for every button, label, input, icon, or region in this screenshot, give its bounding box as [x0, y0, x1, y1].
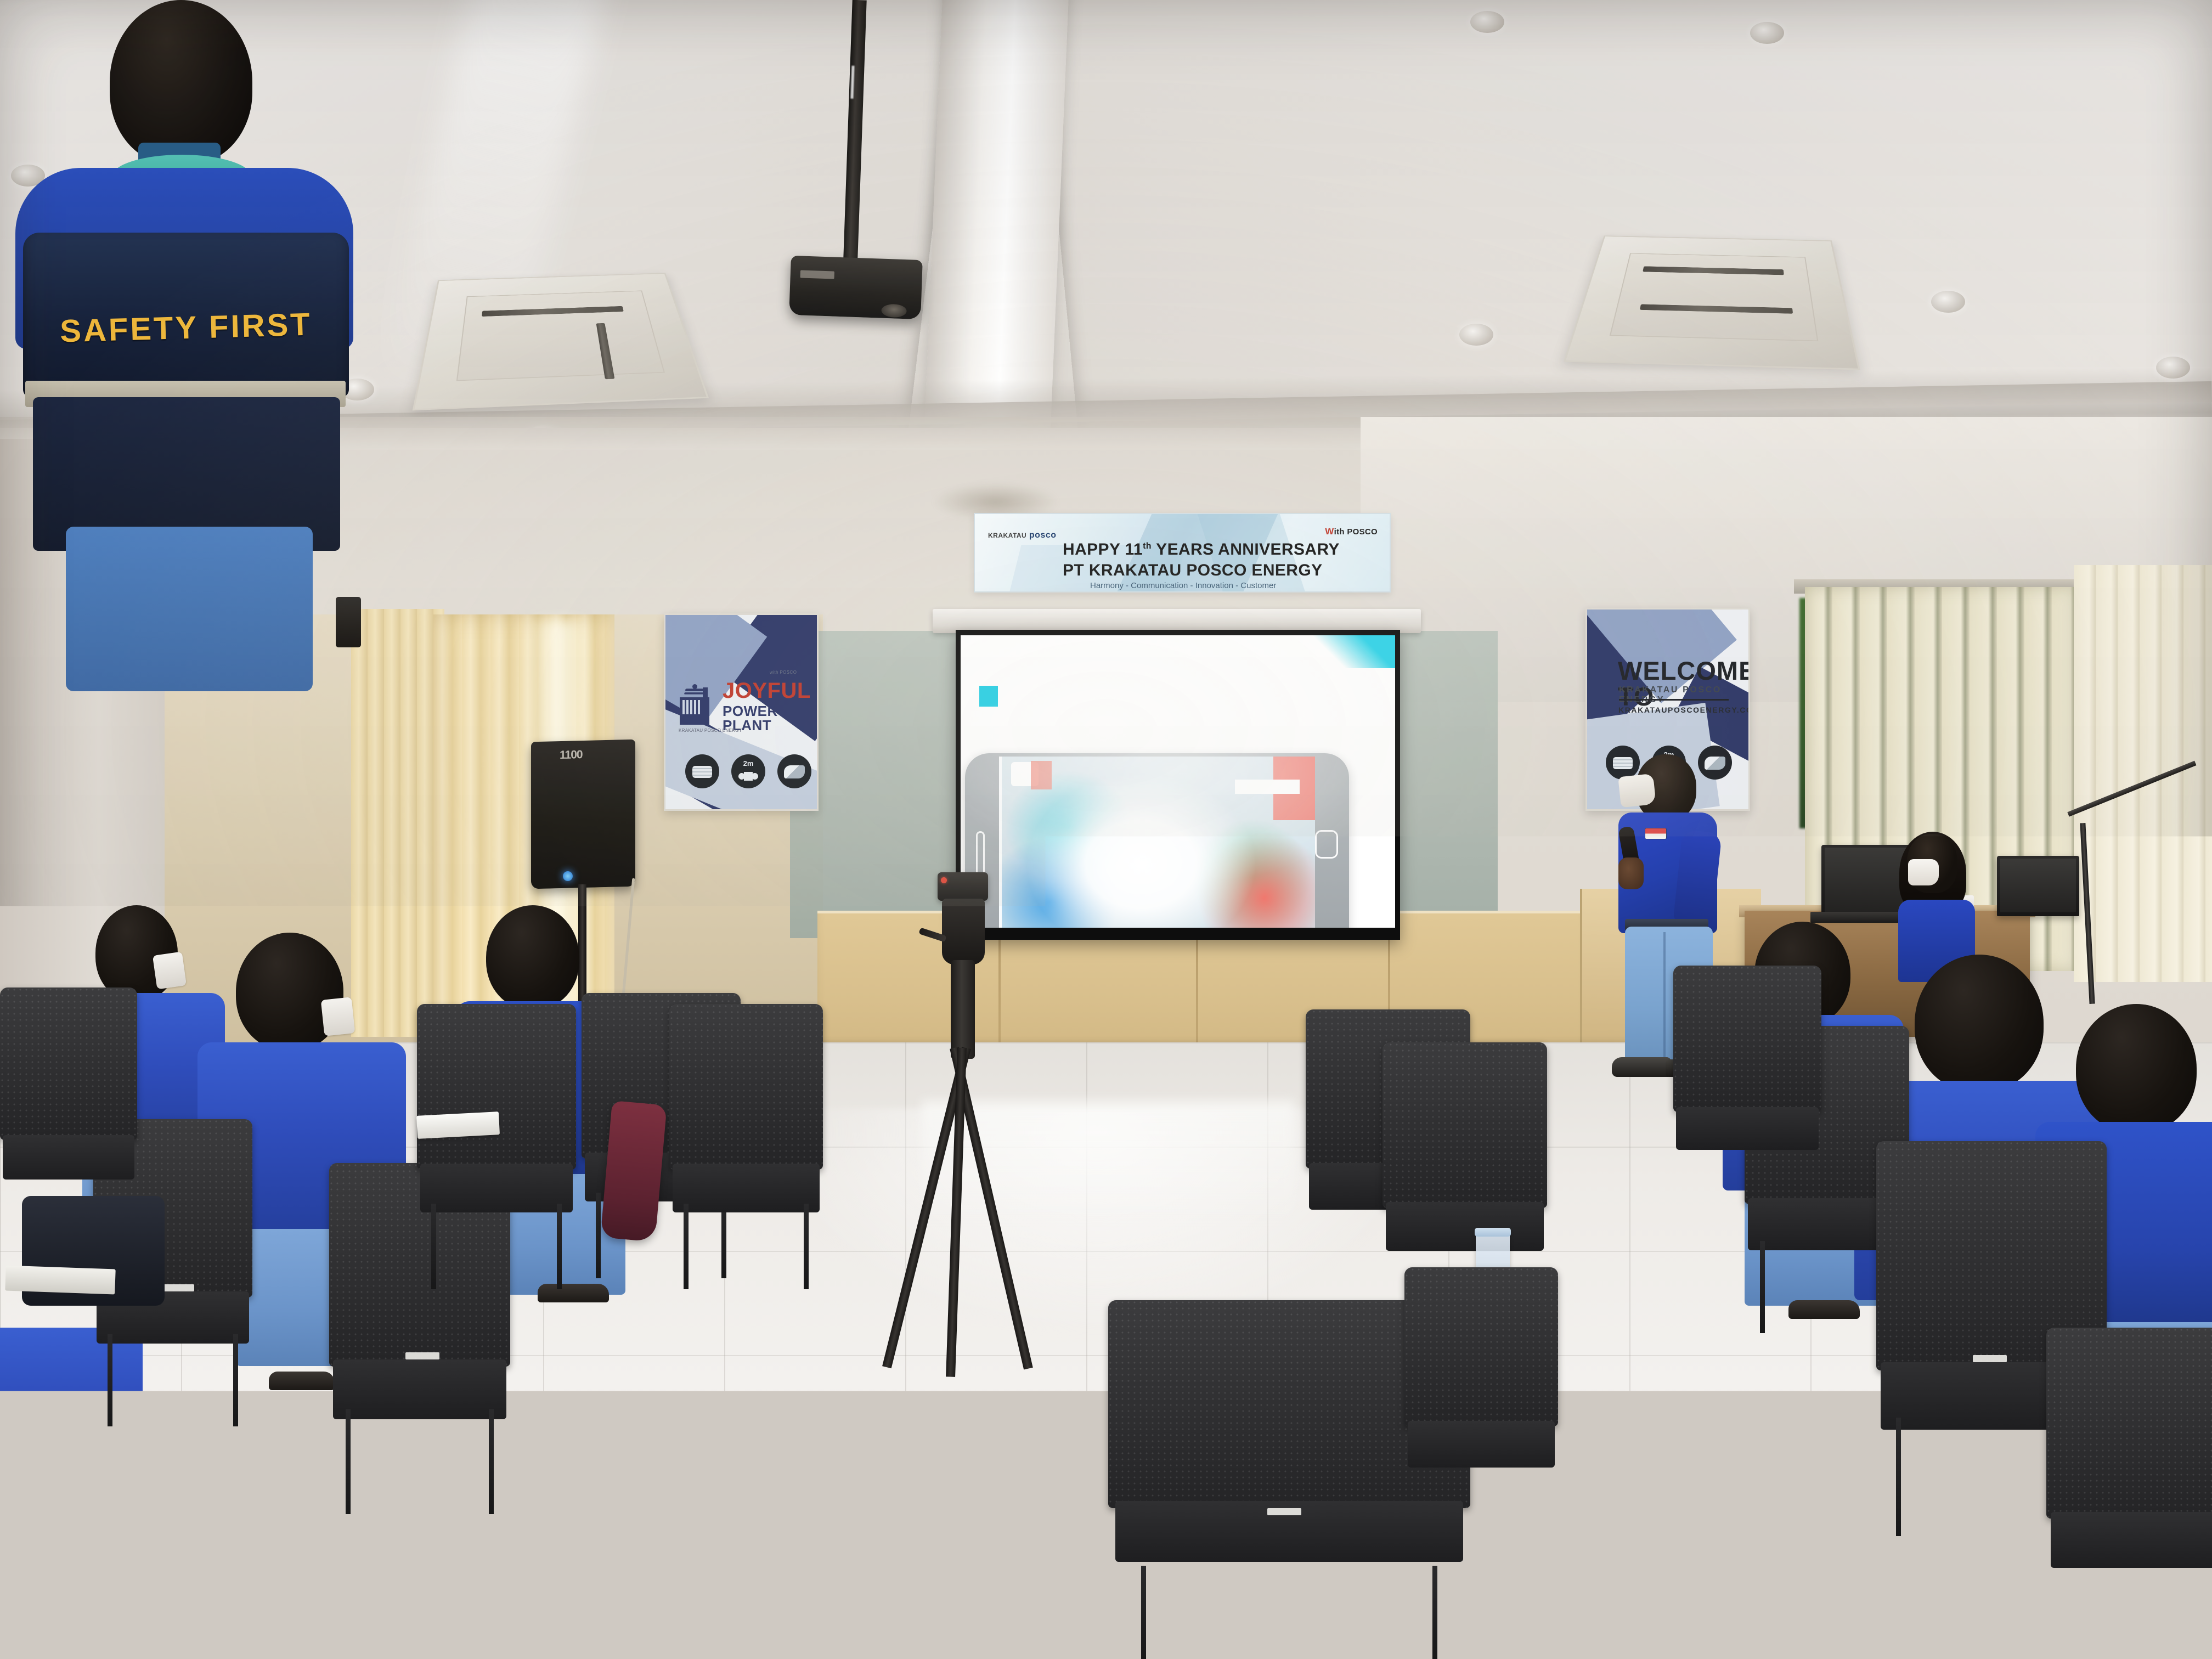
ceiling-ac-unit — [1564, 235, 1860, 370]
video-highlight — [1031, 761, 1052, 789]
banner-title-line2: PT KRAKATAU POSCO ENERGY — [1063, 561, 1323, 580]
attendee-head — [2076, 1004, 2197, 1133]
attendee-head — [1915, 955, 2044, 1092]
presenter-face-mask — [1618, 774, 1656, 808]
with-posco-logo: With POSCO — [1325, 526, 1378, 537]
notebook — [416, 1111, 500, 1139]
ceiling-ac-unit — [413, 273, 709, 410]
projector-lens-icon — [881, 304, 907, 318]
banner-title-pre: HAPPY 11 — [1063, 540, 1143, 558]
pa-speaker: 1100 — [531, 740, 635, 889]
chair-seat — [333, 1359, 507, 1419]
smartphone-screen-content — [999, 757, 1315, 928]
posco-mark-icon: W — [1325, 526, 1334, 537]
presenter-hand — [1618, 857, 1644, 889]
phone-home-button-icon — [1315, 830, 1338, 859]
anniversary-banner: KRAKATAU posco With POSCO HAPPY 11th YEA… — [974, 513, 1391, 592]
chair[interactable] — [669, 1004, 823, 1289]
joyful-power-plant-poster: with POSCO JOYFUL POWER PLANT KRAKATAU P… — [664, 613, 819, 811]
safety-vest: SAFETY FIRST — [23, 233, 349, 397]
chair-leg — [804, 1204, 809, 1289]
face-mask — [153, 952, 187, 990]
chair-leg — [596, 1193, 601, 1278]
chair[interactable] — [417, 1004, 576, 1289]
joyful-title: JOYFUL — [723, 680, 811, 702]
poster-corner-mark: with POSCO — [770, 670, 797, 675]
tripod-center-column — [951, 960, 975, 1059]
recording-indicator-icon — [941, 877, 947, 883]
chair-label-tag — [1973, 1355, 2007, 1362]
chair-back — [1383, 1042, 1547, 1208]
poster-logo-caption: KRAKATAU POSCO ENERGY — [679, 728, 742, 733]
operator-face-mask — [1908, 859, 1939, 885]
downlight — [1459, 324, 1493, 346]
power-led-icon — [563, 871, 573, 881]
attendee-head — [110, 0, 252, 165]
chair-seat — [3, 1135, 134, 1180]
downlight — [1931, 291, 1965, 313]
joyful-plant-logo-icon — [678, 683, 718, 726]
chair-leg — [346, 1409, 351, 1514]
seminar-room-photo: KRAKATAU posco With POSCO HAPPY 11th YEA… — [0, 0, 2212, 1659]
distance-icon: 2m — [731, 754, 765, 788]
flag-badge-icon — [1645, 828, 1667, 839]
video-highlight — [1235, 780, 1300, 794]
ac-vent-slot — [482, 306, 624, 317]
presenter-shoe — [1612, 1057, 1671, 1077]
chair[interactable] — [2046, 1328, 2212, 1657]
chair-seat — [673, 1164, 820, 1212]
banner-title-line1: HAPPY 11th YEARS ANNIVERSARY — [1063, 540, 1340, 559]
slide-accent-corner — [1313, 635, 1395, 668]
attendee-head — [486, 905, 579, 1009]
safety-vest-text: SAFETY FIRST — [22, 305, 349, 351]
phone-volume-button-icon — [976, 831, 985, 878]
chair-seat — [2051, 1512, 2212, 1568]
krakatau-posco-logo: KRAKATAU posco — [988, 531, 1057, 540]
chair-back — [1673, 966, 1821, 1112]
chair-back — [0, 988, 137, 1140]
ac-vent-slot — [596, 323, 615, 379]
smokestack-icon — [703, 687, 708, 705]
chair[interactable] — [1673, 966, 1821, 1218]
chair-leg — [1432, 1566, 1437, 1659]
tripod-head[interactable] — [942, 899, 985, 964]
chair-leg — [108, 1334, 112, 1426]
chair-label-tag — [160, 1284, 194, 1291]
chair-leg — [431, 1204, 436, 1289]
face-mask — [321, 997, 356, 1036]
chair-seat — [1408, 1421, 1555, 1468]
attendee-shoe — [55, 1481, 181, 1520]
notebook — [5, 1266, 115, 1295]
video-camera[interactable] — [938, 872, 988, 901]
cheering-person-icon — [685, 684, 704, 697]
laptop[interactable] — [1997, 856, 2079, 916]
chair-leg — [557, 1204, 562, 1289]
chair-leg — [489, 1409, 494, 1514]
downlight — [1750, 22, 1784, 44]
chair-leg — [233, 1334, 238, 1426]
chair-back — [2046, 1328, 2212, 1519]
ac-vent-slot — [1640, 304, 1793, 314]
covid-icon-row: 2m — [685, 754, 811, 788]
with-posco-text: ith POSCO — [1334, 527, 1378, 537]
chair-leg — [1896, 1418, 1901, 1536]
chair-back — [669, 1004, 823, 1170]
chair-seat — [1386, 1202, 1544, 1250]
welcome-divider — [1619, 699, 1729, 701]
chair-back — [417, 1004, 576, 1170]
attendee-shoe — [269, 1372, 335, 1390]
banner-title-post: YEARS ANNIVERSARY — [1152, 540, 1340, 558]
vertical-blinds-far-right[interactable] — [2074, 565, 2212, 982]
logo-krakatau-text: KRAKATAU — [988, 532, 1026, 539]
chair-leg — [1760, 1241, 1765, 1333]
camera-tripod-assembly — [881, 872, 1045, 1372]
pa-speaker-model: 1100 — [560, 748, 583, 762]
wall-speaker-icon — [336, 597, 361, 647]
chair-label-tag — [405, 1352, 439, 1359]
mask-icon — [685, 754, 719, 788]
chair-label-tag — [1267, 1508, 1301, 1515]
distance-label: 2m — [743, 759, 754, 768]
banner-title-ordinal: th — [1143, 541, 1152, 551]
chair-leg — [684, 1204, 689, 1289]
banner-subtitle: Harmony - Communication - Innovation - C… — [1090, 581, 1276, 590]
handwash-icon — [777, 754, 811, 788]
chair[interactable] — [1404, 1267, 1558, 1542]
chair-seat — [420, 1164, 573, 1212]
welcome-website: KRAKATAUPOSCOENERGY.COM — [1618, 706, 1750, 714]
ceiling-projector — [789, 256, 923, 319]
attendee-trousers — [66, 527, 313, 691]
ac-vent-slot — [1643, 266, 1784, 275]
downlight — [1470, 11, 1504, 33]
chair-leg — [1141, 1566, 1146, 1659]
chair-back — [1404, 1267, 1558, 1426]
logo-posco-text: posco — [1029, 531, 1057, 540]
slide-accent-chip — [979, 686, 998, 707]
downlight — [2156, 357, 2190, 379]
welcome-subheading: KRAKATAU POSCO ENERGY — [1619, 685, 1748, 705]
chair-seat — [1676, 1107, 1818, 1150]
